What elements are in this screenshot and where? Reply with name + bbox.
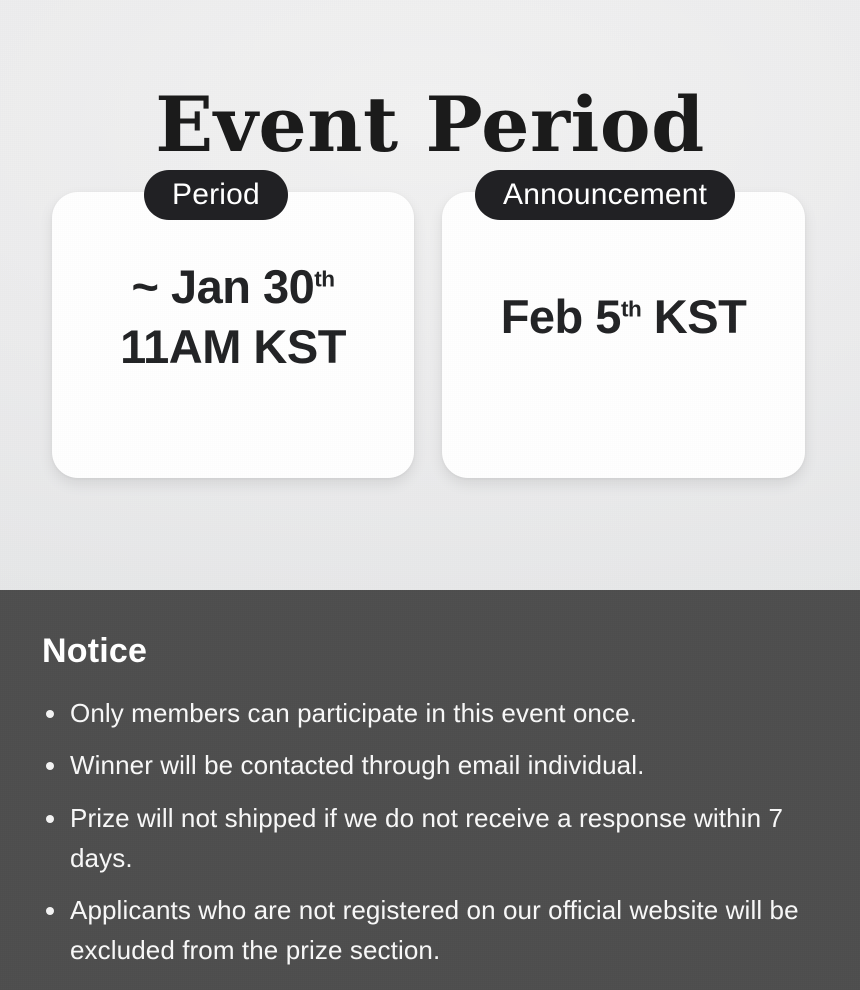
announcement-badge: Announcement	[475, 170, 735, 220]
notice-content: Notice Only members can participate in t…	[42, 632, 818, 971]
notice-list-item: Winner will be contacted through email i…	[42, 745, 818, 785]
period-date-prefix: ~ Jan 30	[131, 260, 314, 313]
event-cards-group: ~ Jan 30th 11AM KST Period Feb 5th KST A…	[0, 170, 860, 490]
period-card: ~ Jan 30th 11AM KST	[52, 192, 414, 478]
period-date-suffix: 11AM KST	[120, 320, 346, 373]
bullet-icon	[46, 762, 54, 770]
announcement-date-ordinal: th	[621, 296, 641, 321]
announcement-date-suffix: KST	[641, 290, 746, 343]
announcement-date-prefix: Feb 5	[501, 290, 621, 343]
notice-section: Notice Only members can participate in t…	[0, 590, 860, 990]
period-date-text: ~ Jan 30th 11AM KST	[120, 257, 346, 377]
announcement-card: Feb 5th KST	[442, 192, 805, 478]
bullet-icon	[46, 907, 54, 915]
notice-list-item: Prize will not shipped if we do not rece…	[42, 798, 818, 879]
bullet-icon	[46, 815, 54, 823]
notice-list-item: Only members can participate in this eve…	[42, 693, 818, 733]
notice-heading: Notice	[42, 632, 818, 671]
announcement-date-text: Feb 5th KST	[501, 287, 747, 347]
period-date-ordinal: th	[314, 266, 334, 291]
notice-list-item: Applicants who are not registered on our…	[42, 890, 818, 971]
notice-item-text: Applicants who are not registered on our…	[70, 895, 799, 965]
notice-item-text: Winner will be contacted through email i…	[70, 750, 644, 780]
page-title: Event Period	[0, 87, 860, 163]
event-period-section: Event Period ~ Jan 30th 11AM KST Period …	[0, 0, 860, 590]
notice-list: Only members can participate in this eve…	[42, 693, 818, 971]
notice-item-text: Prize will not shipped if we do not rece…	[70, 803, 783, 873]
period-badge: Period	[144, 170, 288, 220]
notice-item-text: Only members can participate in this eve…	[70, 698, 637, 728]
event-period-page: Event Period ~ Jan 30th 11AM KST Period …	[0, 0, 860, 990]
bullet-icon	[46, 710, 54, 718]
